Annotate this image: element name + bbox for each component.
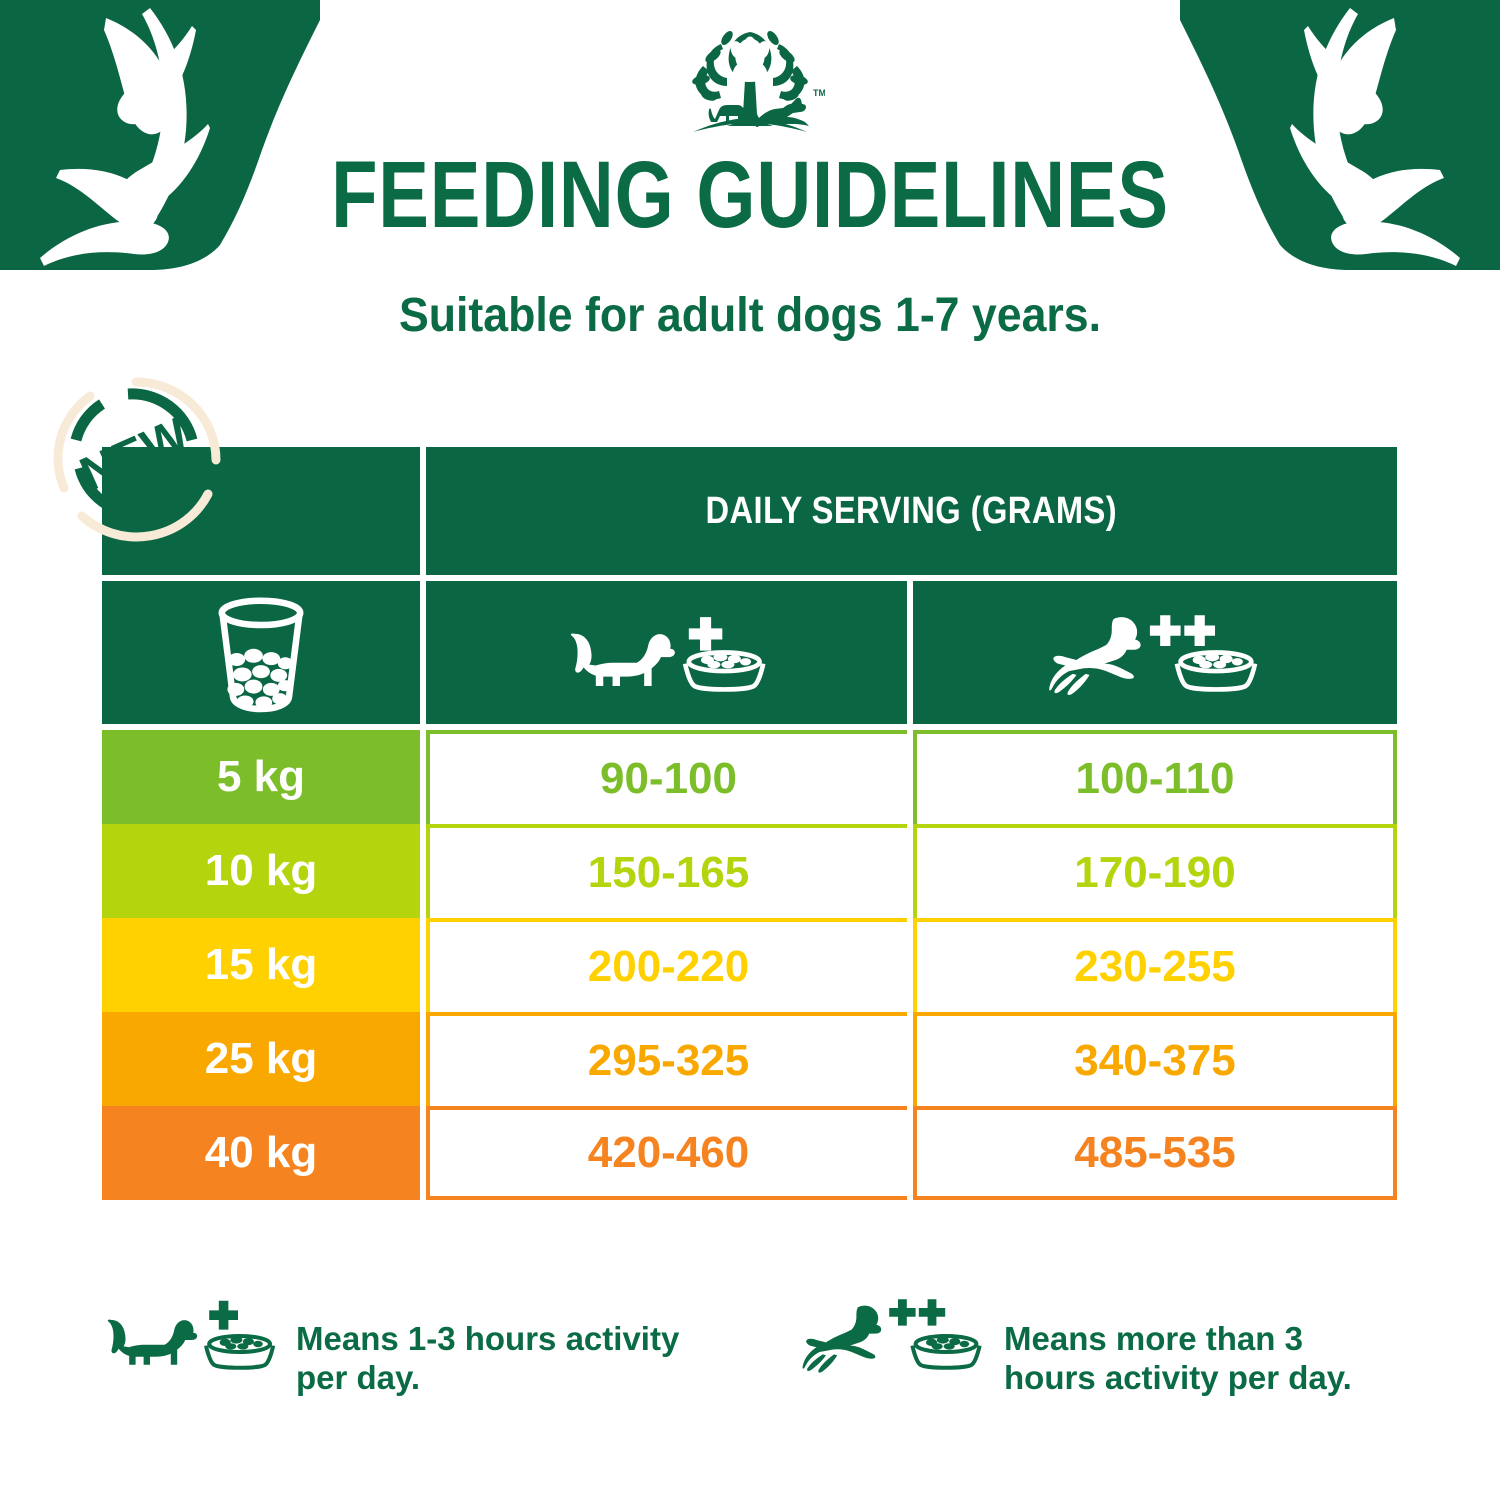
measuring-cup-icon xyxy=(205,592,317,714)
low-activity-value-cell: 295-325 xyxy=(426,1012,907,1106)
table-row: 25 kg295-325340-375 xyxy=(102,1012,1397,1106)
daily-serving-header: DAILY SERVING (GRAMS) xyxy=(426,447,1397,575)
high-activity-value-cell: 485-535 xyxy=(913,1106,1397,1200)
low-activity-value-cell: 90-100 xyxy=(426,730,907,824)
measuring-cup-cell xyxy=(102,581,420,724)
daily-serving-header-label: DAILY SERVING (GRAMS) xyxy=(706,490,1118,533)
tree-paw-logo: TM xyxy=(675,22,825,142)
weight-cell: 25 kg xyxy=(102,1012,420,1106)
header-low-activity xyxy=(426,581,907,724)
footnote-icon-wrap xyxy=(802,1296,986,1381)
weight-cell: 10 kg xyxy=(102,824,420,918)
table-row: 15 kg200-220230-255 xyxy=(102,918,1397,1012)
new-badge: NEW xyxy=(42,368,230,544)
high-activity-value-cell: 170-190 xyxy=(913,824,1397,918)
table-header-icons xyxy=(102,581,1397,724)
weight-cell: 15 kg xyxy=(102,918,420,1012)
page-title: FEEDING GUIDELINES xyxy=(150,148,1350,243)
table-header-top: DAILY SERVING (GRAMS) xyxy=(102,447,1397,575)
footnotes: Means 1-3 hours activity per day. xyxy=(102,1296,1402,1398)
footnote-high-activity: Means more than 3 hours activity per day… xyxy=(802,1296,1402,1398)
high-activity-value-cell: 340-375 xyxy=(913,1012,1397,1106)
standing-dog-bowl-icon xyxy=(102,1296,278,1376)
low-activity-value-cell: 420-460 xyxy=(426,1106,907,1200)
low-activity-value-cell: 150-165 xyxy=(426,824,907,918)
weight-cell: 40 kg xyxy=(102,1106,420,1200)
high-activity-value-cell: 100-110 xyxy=(913,730,1397,824)
table-body: 5 kg90-100100-11010 kg150-165170-19015 k… xyxy=(102,730,1397,1200)
table-row: 10 kg150-165170-190 xyxy=(102,824,1397,918)
footnote-icon-wrap xyxy=(102,1296,278,1381)
header-high-activity xyxy=(913,581,1397,724)
table-row: 40 kg420-460485-535 xyxy=(102,1106,1397,1200)
footnote-high-activity-text: Means more than 3 hours activity per day… xyxy=(1004,1296,1402,1398)
jumping-dog-bowl-icon xyxy=(1048,606,1263,699)
feeding-table: DAILY SERVING (GRAMS) xyxy=(102,447,1397,1200)
footnote-low-activity-text: Means 1-3 hours activity per day. xyxy=(296,1296,696,1398)
jumping-dog-bowl-icon xyxy=(802,1296,986,1376)
standing-dog-bowl-icon xyxy=(564,606,769,699)
low-activity-value-cell: 200-220 xyxy=(426,918,907,1012)
new-badge-label: NEW xyxy=(73,408,197,502)
footnote-low-activity: Means 1-3 hours activity per day. xyxy=(102,1296,802,1398)
high-activity-value-cell: 230-255 xyxy=(913,918,1397,1012)
weight-cell: 5 kg xyxy=(102,730,420,824)
trademark-symbol: TM xyxy=(813,88,825,98)
page-subtitle: Suitable for adult dogs 1-7 years. xyxy=(53,288,1448,343)
table-row: 5 kg90-100100-110 xyxy=(102,730,1397,824)
